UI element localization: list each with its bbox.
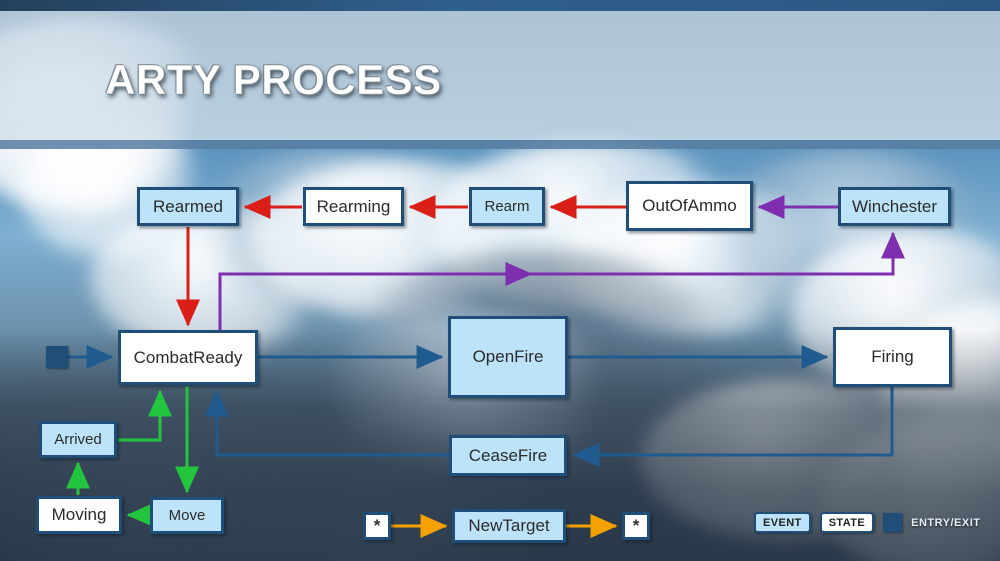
entry-point-marker[interactable] (46, 346, 68, 368)
node-star_left[interactable]: * (363, 512, 391, 540)
legend-state-label: STATE (829, 517, 865, 529)
node-outofammo[interactable]: OutOfAmmo (626, 181, 753, 231)
node-label: * (374, 516, 381, 536)
node-moving[interactable]: Moving (36, 496, 122, 534)
node-move[interactable]: Move (150, 497, 224, 534)
connector-layer (0, 0, 1000, 561)
node-label: OutOfAmmo (642, 196, 736, 216)
node-label: Rearming (317, 197, 391, 217)
node-label: Move (169, 507, 206, 524)
legend: EVENT STATE ENTRY/EXIT (754, 512, 981, 533)
node-label: Winchester (852, 197, 937, 217)
node-firing[interactable]: Firing (833, 327, 952, 387)
node-rearm[interactable]: Rearm (469, 187, 545, 226)
node-openfire[interactable]: OpenFire (448, 316, 568, 398)
node-star_right[interactable]: * (622, 512, 650, 540)
arrow-firing-to-ceasefire (574, 387, 892, 455)
node-label: OpenFire (473, 347, 544, 367)
node-newtarget[interactable]: NewTarget (452, 509, 566, 543)
node-rearming[interactable]: Rearming (303, 187, 404, 226)
arrow-arrived-to-combatready (118, 391, 160, 440)
node-label: Rearm (484, 198, 529, 215)
legend-entry-exit-label: ENTRY/EXIT (911, 517, 980, 529)
node-rearmed[interactable]: Rearmed (137, 187, 239, 226)
node-label: CombatReady (134, 348, 243, 368)
legend-entry-exit-swatch (883, 513, 902, 532)
node-label: Moving (52, 505, 107, 525)
node-label: Arrived (54, 431, 102, 448)
node-label: Rearmed (153, 197, 223, 217)
node-combatready[interactable]: CombatReady (118, 330, 258, 385)
legend-event-label: EVENT (763, 517, 802, 529)
node-arrived[interactable]: Arrived (39, 421, 117, 458)
node-label: * (633, 516, 640, 536)
node-winchester[interactable]: Winchester (838, 187, 951, 226)
slide-canvas: ARTY PROCESS (0, 0, 1000, 561)
arrow-ceasefire-to-combatready (217, 391, 449, 455)
node-label: NewTarget (468, 516, 549, 536)
node-label: CeaseFire (469, 446, 547, 466)
legend-event-swatch: EVENT (754, 512, 811, 533)
node-ceasefire[interactable]: CeaseFire (449, 435, 567, 476)
node-label: Firing (871, 347, 914, 367)
legend-state-swatch: STATE (820, 512, 874, 533)
